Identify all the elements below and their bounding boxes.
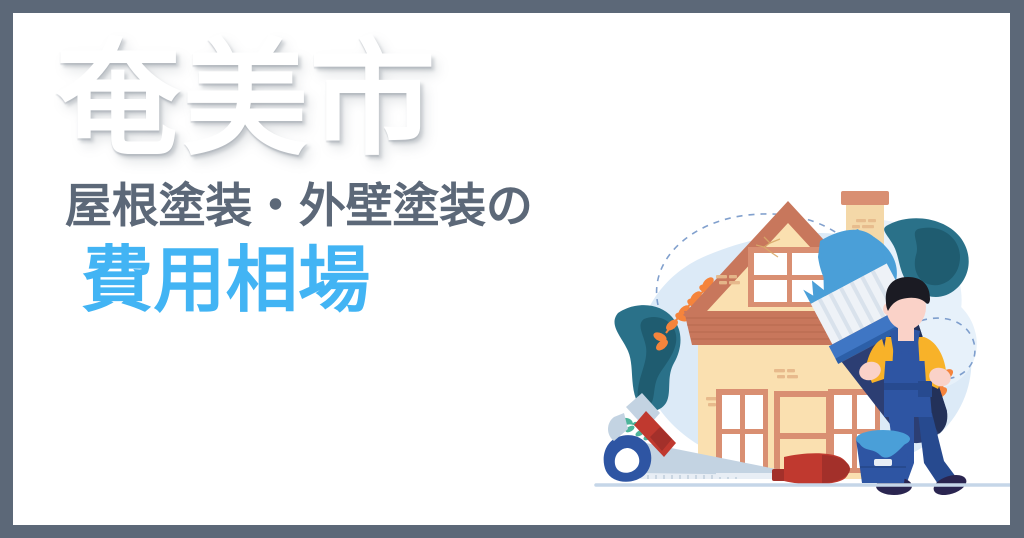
price-label: 費用相場 — [81, 244, 655, 320]
headline-block: 奄美市 屋根塗装・外壁塗装の 費用相場 — [55, 37, 655, 320]
subtitle: 屋根塗装・外壁塗装の — [65, 181, 655, 230]
banner-frame: 奄美市 屋根塗装・外壁塗装の 費用相場 — [0, 0, 1024, 538]
paint-bucket — [856, 430, 910, 483]
page-title: 奄美市 — [55, 37, 655, 163]
banner-canvas: 奄美市 屋根塗装・外壁塗装の 費用相場 — [13, 13, 1010, 525]
